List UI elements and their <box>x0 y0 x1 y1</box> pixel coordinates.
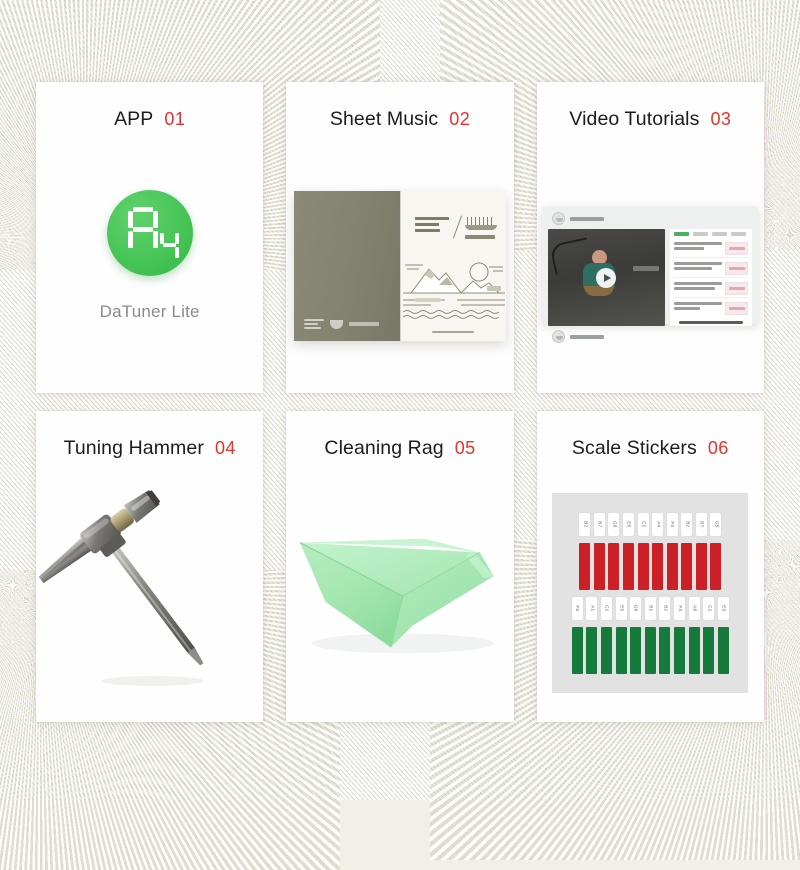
tab-active[interactable] <box>674 232 689 236</box>
card-header: Scale Stickers 06 <box>537 411 764 460</box>
green-sticker-strip <box>703 627 714 674</box>
note-label-sticker: B2 <box>659 597 670 620</box>
card-body: B2B7G5E6C1A4F4B2B7G5 F3A1C1E5G6B1B2F4A6C… <box>537 460 764 722</box>
note-label-text: E5 <box>619 605 624 611</box>
green-sticker-strip <box>718 627 729 674</box>
tuning-hammer-photo <box>36 460 263 722</box>
card-body <box>286 460 513 722</box>
brand-logo-icon <box>552 212 565 225</box>
note-label-sticker: F4 <box>667 513 678 536</box>
product-card-grid: APP 01 DaTuner Lite <box>36 82 764 722</box>
green-sticker-strip <box>601 627 612 674</box>
note-label-sticker: G6 <box>630 597 641 620</box>
card-number: 03 <box>710 109 731 130</box>
note-label-text: C1 <box>604 605 609 611</box>
note-label-text: B2 <box>582 521 587 527</box>
card-title: Video Tutorials <box>569 108 699 131</box>
red-sticker-strip <box>579 543 590 590</box>
play-button-icon[interactable] <box>596 268 616 288</box>
card-body <box>36 460 263 722</box>
note-label-text: G6 <box>633 605 638 612</box>
video-tutorial-screenshot <box>542 206 758 324</box>
playlist-item[interactable] <box>673 280 750 298</box>
note-label-text: C1 <box>641 521 646 527</box>
green-sticker-strip <box>586 627 597 674</box>
book-front-cover <box>400 191 506 341</box>
card-title: Scale Stickers <box>572 437 697 460</box>
red-sticker-strip <box>594 543 605 590</box>
green-sticker-strip <box>616 627 627 674</box>
card-number: 01 <box>164 109 185 130</box>
tab-2[interactable] <box>693 232 708 236</box>
video-frame[interactable] <box>548 229 664 326</box>
card-app[interactable]: APP 01 DaTuner Lite <box>36 82 263 393</box>
note-label-sticker: E6 <box>623 513 634 536</box>
note-label-text: F4 <box>677 605 682 611</box>
green-sticker-strip <box>689 627 700 674</box>
note-label-text: C2 <box>706 605 711 611</box>
card-title: APP <box>114 108 153 131</box>
note-label-sticker: B2 <box>579 513 590 536</box>
red-sticker-strip <box>710 543 721 590</box>
note-label-sticker: E3 <box>718 597 729 620</box>
card-body <box>286 131 513 393</box>
kalimba-song-book-photo <box>294 191 506 341</box>
card-header: Sheet Music 02 <box>286 82 513 131</box>
note-label-sticker: G5 <box>608 513 619 536</box>
note-label-sticker: B7 <box>696 513 707 536</box>
card-header: APP 01 <box>36 82 263 131</box>
note-label-text: B7 <box>597 521 602 527</box>
red-sticker-strip <box>696 543 707 590</box>
note-label-sticker: B1 <box>645 597 656 620</box>
note-label-text: B2 <box>685 521 690 527</box>
playlist-thumbnail <box>725 262 748 275</box>
note-label-sticker: E5 <box>616 597 627 620</box>
card-title: Tuning Hammer <box>64 437 204 460</box>
note-label-text: B7 <box>699 521 704 527</box>
progress-scrollbar[interactable] <box>679 321 744 324</box>
app-name-label: DaTuner Lite <box>100 302 200 322</box>
red-sticker-strip <box>638 543 649 590</box>
card-header: Tuning Hammer 04 <box>36 411 263 460</box>
tab-3[interactable] <box>712 232 727 236</box>
playlist-thumbnail <box>725 282 748 295</box>
green-sticker-strip <box>572 627 583 674</box>
note-label-sticker: B7 <box>594 513 605 536</box>
card-header: Video Tutorials 03 <box>537 82 764 131</box>
tab-4[interactable] <box>731 232 746 236</box>
sticker-label-row-1: B2B7G5E6C1A4F4B2B7G5 <box>579 513 721 536</box>
kalimba-icon <box>465 217 497 230</box>
red-sticker-strip <box>608 543 619 590</box>
note-label-sticker: C1 <box>601 597 612 620</box>
card-number: 05 <box>455 438 476 459</box>
player-footer <box>548 326 752 343</box>
book-title-text <box>415 217 449 232</box>
note-label-text: G5 <box>714 521 719 528</box>
note-label-text: A6 <box>692 605 697 611</box>
note-label-text: B1 <box>648 605 653 611</box>
red-sticker-strip <box>667 543 678 590</box>
card-cleaning-rag[interactable]: Cleaning Rag 05 <box>286 411 513 722</box>
green-sticker-strip <box>630 627 641 674</box>
card-title: Sheet Music <box>330 108 438 131</box>
note-label-text: F4 <box>670 521 675 527</box>
note-label-text: E6 <box>626 521 631 527</box>
note-label-text: B2 <box>663 605 668 611</box>
cleaning-rag-photo <box>286 460 513 722</box>
green-sticker-strip <box>645 627 656 674</box>
playlist-thumbnail <box>725 242 748 255</box>
note-label-text: F3 <box>575 605 580 611</box>
red-sticker-strip <box>681 543 692 590</box>
playlist-panel[interactable] <box>670 229 753 326</box>
sticker-label-row-2: F3A1C1E5G6B1B2F4A6C2E3 <box>572 597 729 620</box>
card-body: DaTuner Lite <box>36 131 263 393</box>
green-sticker-strip <box>674 627 685 674</box>
note-label-text: A4 <box>655 521 660 527</box>
playlist-item[interactable] <box>673 300 750 317</box>
card-number: 04 <box>215 438 236 459</box>
card-number: 06 <box>708 438 729 459</box>
player-header <box>548 211 752 229</box>
card-header: Cleaning Rag 05 <box>286 411 513 460</box>
note-label-text: G5 <box>612 521 617 528</box>
card-body <box>537 131 764 393</box>
book-back-cover <box>294 191 400 341</box>
card-number: 02 <box>449 109 470 130</box>
playlist-item[interactable] <box>673 240 750 258</box>
note-label-sticker: B2 <box>681 513 692 536</box>
red-sticker-strip <box>652 543 663 590</box>
red-sticker-strip <box>623 543 634 590</box>
playlist-thumbnail <box>725 302 748 315</box>
note-label-sticker: A1 <box>586 597 597 620</box>
green-sticker-strip <box>659 627 670 674</box>
playlist-item[interactable] <box>673 260 750 278</box>
card-sheet-music[interactable]: Sheet Music 02 <box>286 82 513 393</box>
card-tuning-hammer[interactable]: Tuning Hammer 04 <box>36 411 263 722</box>
note-label-sticker: G5 <box>710 513 721 536</box>
mountain-landscape-illustration <box>401 255 506 323</box>
note-label-text: A1 <box>590 605 595 611</box>
note-label-sticker: A4 <box>652 513 663 536</box>
scale-sticker-panel: B2B7G5E6C1A4F4B2B7G5 F3A1C1E5G6B1B2F4A6C… <box>552 493 748 693</box>
note-label-text: E3 <box>721 605 726 611</box>
red-strip-row <box>579 543 721 590</box>
note-label-sticker: A6 <box>689 597 700 620</box>
green-strip-row <box>572 627 729 674</box>
note-label-sticker: C2 <box>703 597 714 620</box>
datuner-app-icon <box>107 190 193 276</box>
card-video-tutorials[interactable]: Video Tutorials 03 <box>537 82 764 393</box>
note-label-sticker: C1 <box>638 513 649 536</box>
playlist-tabs[interactable] <box>673 232 750 238</box>
card-title: Cleaning Rag <box>324 437 443 460</box>
brand-logo-icon <box>552 330 565 343</box>
note-label-sticker: F4 <box>674 597 685 620</box>
card-scale-stickers[interactable]: Scale Stickers 06 B2B7G5E6C1A4F4B2B7G5 F… <box>537 411 764 722</box>
note-label-sticker: F3 <box>572 597 583 620</box>
